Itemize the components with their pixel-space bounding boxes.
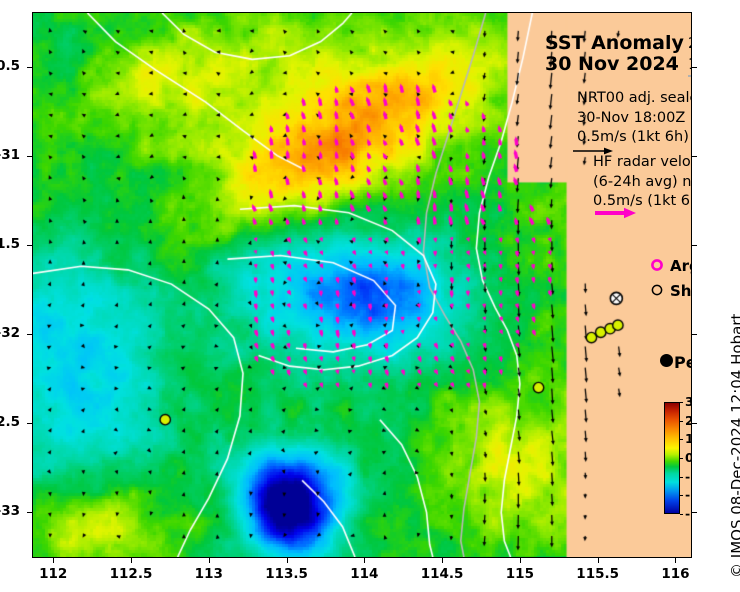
- ship-marker-icon: [649, 282, 665, 298]
- map-plot-area[interactable]: SST Anomaly30 Nov 2024 200m1000m NRT00 a…: [32, 12, 692, 558]
- y-axis-tick-right: [691, 67, 697, 68]
- y-axis-tick: [27, 334, 33, 335]
- y-axis-tick-label: -32: [0, 325, 20, 341]
- colorbar-tick-label: 3: [685, 394, 692, 409]
- x-axis-tick: [675, 557, 676, 563]
- colorbar: [664, 402, 680, 514]
- figure-root: SST Anomaly30 Nov 2024 200m1000m NRT00 a…: [0, 0, 740, 592]
- colorbar-tick-label: -2: [685, 487, 692, 502]
- x-axis-tick-label: 116: [635, 566, 715, 582]
- colorbar-tick: [680, 514, 683, 515]
- colorbar-tick-label: -3: [685, 506, 692, 521]
- hfradar-legend-text: HF radar velocity(6-24h avg) noQC0.5m/s …: [593, 153, 692, 212]
- x-axis-tick-label: 114.5: [402, 566, 482, 582]
- y-axis-tick: [27, 423, 33, 424]
- x-axis-tick-label: 112: [13, 566, 93, 582]
- perth-city-dot: [660, 354, 673, 367]
- x-axis-tick-label: 114: [324, 566, 404, 582]
- y-axis-tick-right: [691, 245, 697, 246]
- y-axis-tick-label: -33: [0, 503, 20, 519]
- colorbar-tick-label: 1: [685, 431, 692, 446]
- x-axis-tick-label: 115: [480, 566, 560, 582]
- y-axis-tick-label: -31.5: [0, 236, 20, 252]
- y-axis-tick-label: -31: [0, 147, 20, 163]
- colorbar-tick-label: 2: [685, 413, 692, 428]
- x-axis-tick-label: 112.5: [91, 566, 171, 582]
- colorbar-tick: [680, 421, 683, 422]
- x-axis-tick: [53, 557, 54, 563]
- map-title: SST Anomaly30 Nov 2024: [545, 33, 684, 75]
- x-axis-tick: [287, 557, 288, 563]
- colorbar-tick-label: -1: [685, 469, 692, 484]
- x-axis-tick-label: 113: [169, 566, 249, 582]
- sealevel-legend-text: NRT00 adj. sealevel30-Nov 18:00Z0.5m/s (…: [577, 89, 692, 148]
- x-axis-tick: [209, 557, 210, 563]
- y-axis-tick-right: [691, 512, 697, 513]
- colorbar-tick: [680, 402, 683, 403]
- x-axis-tick: [442, 557, 443, 563]
- x-axis-tick: [131, 557, 132, 563]
- y-axis-tick-right: [691, 156, 697, 157]
- y-axis-tick: [27, 245, 33, 246]
- y-axis-tick-label: -32.5: [0, 414, 20, 430]
- colorbar-tick: [680, 458, 683, 459]
- attribution-credit: © IMOS 08-Dec-2024 12:04 Hobart: [728, 314, 740, 578]
- y-axis-tick: [27, 512, 33, 513]
- x-axis-tick-label: 113.5: [247, 566, 327, 582]
- y-axis-tick-right: [691, 334, 697, 335]
- bathymetry-labels: 200m1000m: [688, 33, 692, 75]
- sealevel-arrow-icon: [571, 145, 615, 157]
- argo-marker-icon: [649, 257, 665, 273]
- x-axis-tick: [520, 557, 521, 563]
- x-axis-tick-label: 115.5: [558, 566, 638, 582]
- colorbar-tick: [680, 477, 683, 478]
- hfradar-arrow-icon: [593, 207, 637, 219]
- colorbar-tick-label: 0: [685, 450, 692, 465]
- argo-legend-label: Argo: [670, 257, 692, 275]
- ship-legend-label: Ship: [670, 282, 692, 300]
- x-axis-tick: [598, 557, 599, 563]
- x-axis-tick: [364, 557, 365, 563]
- perth-city-label: Perth: [674, 353, 692, 372]
- y-axis-tick: [27, 156, 33, 157]
- bathymetry-rule: [688, 75, 692, 77]
- y-axis-tick: [27, 67, 33, 68]
- colorbar-tick: [680, 495, 683, 496]
- y-axis-tick-right: [691, 423, 697, 424]
- y-axis-tick-label: -30.5: [0, 58, 20, 74]
- colorbar-tick: [680, 439, 683, 440]
